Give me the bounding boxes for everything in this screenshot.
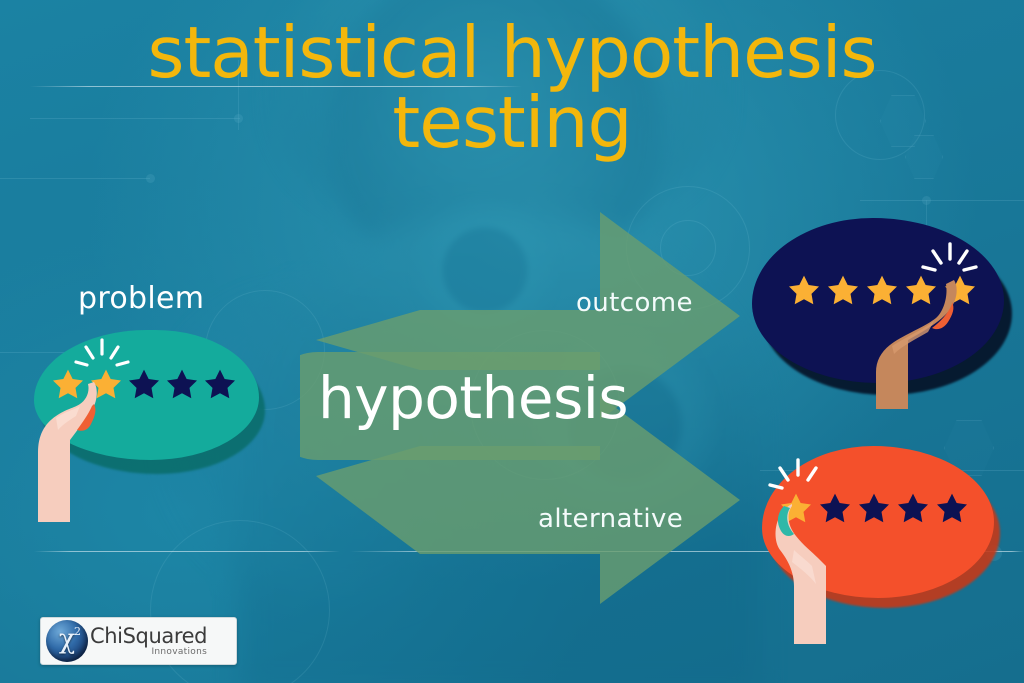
- sparkle-icon: [74, 338, 130, 378]
- circuit-trace: [0, 178, 150, 179]
- card-label-problem: problem: [78, 281, 204, 316]
- brand-logo[interactable]: χ 2 ChiSquared Innovations: [40, 617, 237, 665]
- arrow-label-outcome: outcome: [576, 288, 693, 318]
- brand-name-part-2: Squared: [123, 624, 207, 648]
- rating-card-problem: [34, 330, 259, 460]
- pointing-hand-icon: [30, 374, 140, 524]
- decorative-rule-bottom-left: [34, 551, 340, 552]
- rating-card-alternative: [762, 446, 994, 598]
- star-filled[interactable]: [786, 272, 822, 308]
- star-empty[interactable]: [164, 366, 200, 402]
- brand-name-part-1: Chi: [90, 624, 123, 648]
- star-empty[interactable]: [895, 490, 931, 526]
- chi-exponent: 2: [74, 625, 81, 638]
- pointing-hand-icon: [862, 276, 982, 411]
- sparkle-icon: [768, 458, 824, 500]
- page-title: statistical hypothesis testing: [0, 18, 1024, 157]
- brand-tagline: Innovations: [90, 648, 207, 657]
- arrow-label-alternative: alternative: [538, 504, 683, 534]
- page-title-line-2: testing: [0, 88, 1024, 158]
- rating-card-outcome: [752, 218, 1004, 383]
- hypothesis-label: hypothesis: [318, 369, 628, 427]
- brand-name: ChiSquared: [90, 626, 207, 647]
- circuit-trace: [860, 200, 1024, 201]
- star-filled[interactable]: [825, 272, 861, 308]
- circuit-node: [146, 174, 155, 183]
- chi-squared-orb-icon: χ 2: [46, 620, 88, 662]
- star-empty[interactable]: [202, 366, 238, 402]
- brand-logo-text: ChiSquared Innovations: [90, 626, 207, 657]
- infographic-canvas: statistical hypothesis testing outcome a…: [0, 0, 1024, 683]
- star-empty[interactable]: [934, 490, 970, 526]
- pointing-hand-icon: [768, 496, 878, 646]
- chi-symbol: χ: [46, 619, 88, 661]
- circuit-node: [922, 196, 931, 205]
